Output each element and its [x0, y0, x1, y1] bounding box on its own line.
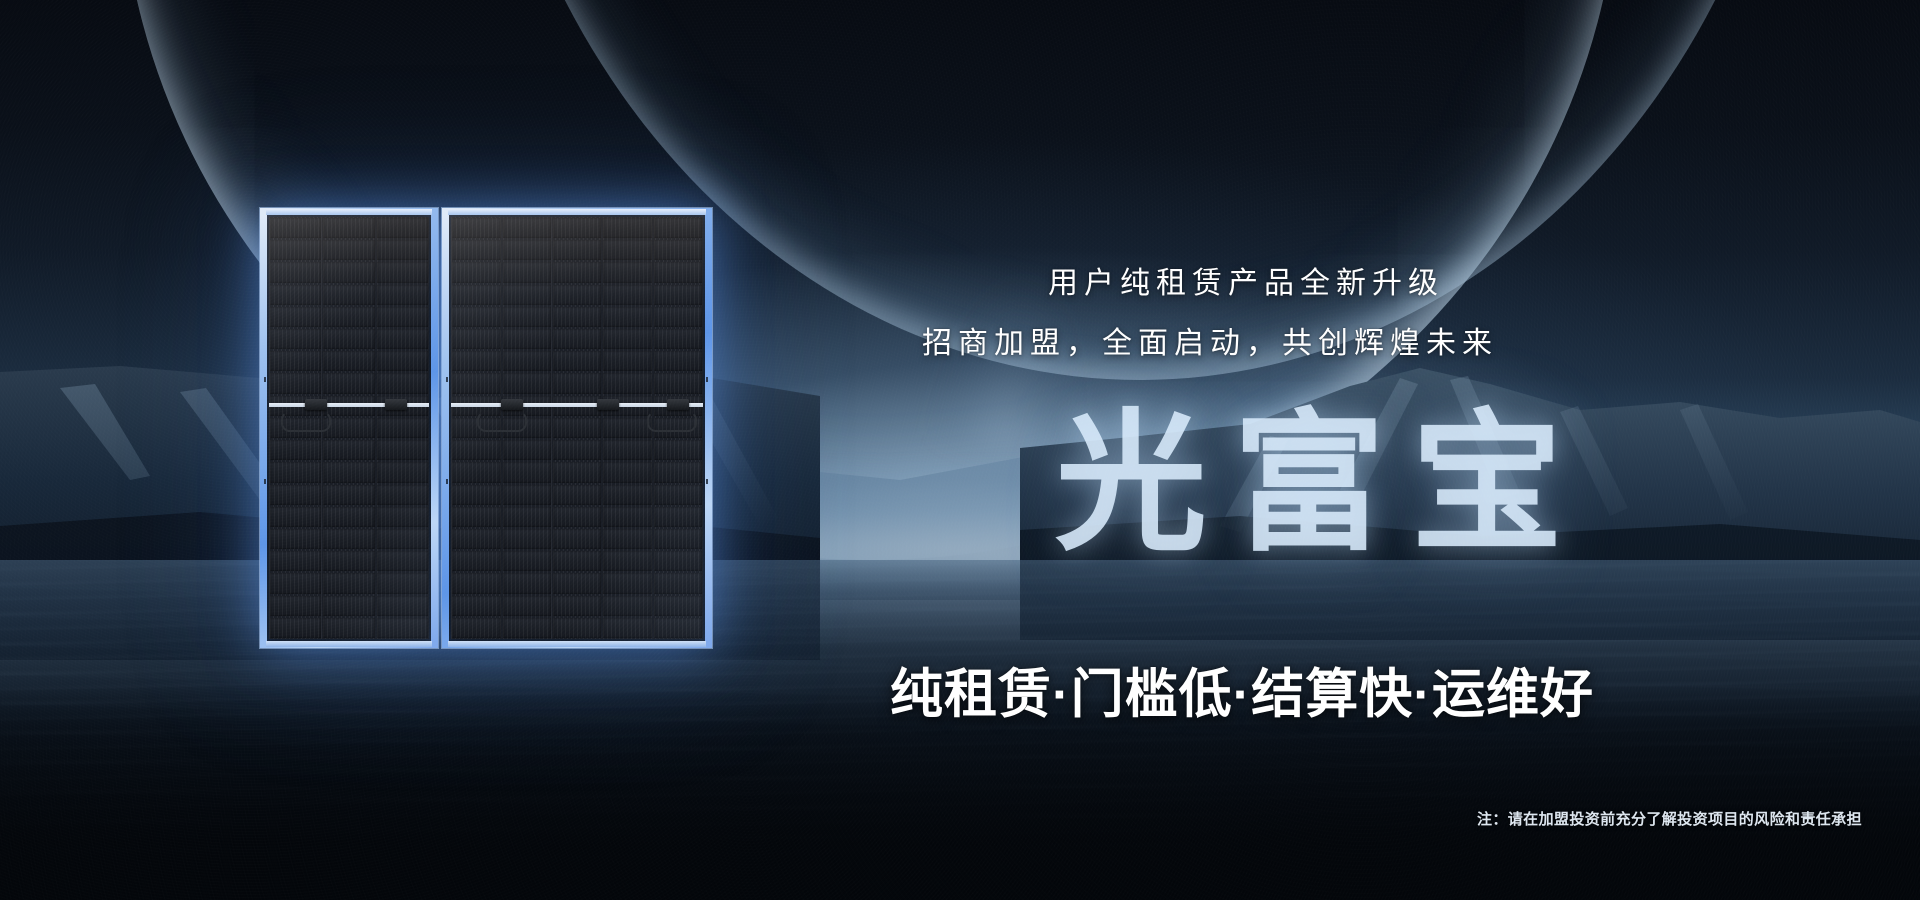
headline-line-1: 用户纯租赁产品全新升级	[1048, 258, 1444, 302]
junction-box	[597, 399, 619, 410]
solar-cell	[654, 307, 702, 327]
solar-cell	[270, 618, 321, 638]
solar-cell	[503, 507, 551, 527]
solar-cell	[377, 507, 428, 527]
solar-cell	[553, 240, 601, 260]
solar-cell	[503, 596, 551, 616]
solar-cell	[323, 551, 374, 571]
solar-cell	[503, 551, 551, 571]
solar-cell	[377, 307, 428, 327]
solar-cell	[270, 373, 321, 393]
solar-cell	[323, 507, 374, 527]
solar-cell	[377, 596, 428, 616]
solar-cell	[503, 529, 551, 549]
solar-cell	[603, 240, 651, 260]
panel-rail-top	[448, 209, 706, 215]
panel-cable	[477, 411, 527, 432]
solar-cell	[323, 373, 374, 393]
solar-cell	[323, 240, 374, 260]
solar-cell	[553, 462, 601, 482]
solar-cell	[654, 240, 702, 260]
solar-cell	[553, 285, 601, 305]
solar-cell	[553, 529, 601, 549]
solar-cell	[654, 218, 702, 238]
solar-cell	[654, 573, 702, 593]
panel-rail-bottom	[266, 641, 432, 647]
solar-cell	[270, 551, 321, 571]
panel-rail-top	[266, 209, 432, 215]
mount-hole	[264, 479, 266, 484]
solar-cell	[603, 551, 651, 571]
junction-box	[385, 399, 407, 410]
solar-cell	[452, 329, 500, 349]
panel-cable	[647, 411, 697, 432]
solar-cell	[270, 573, 321, 593]
solar-cell	[603, 618, 651, 638]
solar-cell	[654, 329, 702, 349]
solar-cell	[377, 218, 428, 238]
solar-cell	[503, 440, 551, 460]
solar-cell	[270, 329, 321, 349]
mount-hole	[264, 377, 266, 382]
solar-cell	[503, 285, 551, 305]
junction-box	[667, 399, 689, 410]
solar-cell	[503, 240, 551, 260]
solar-cell	[654, 485, 702, 505]
solar-cell	[553, 596, 601, 616]
solar-cell	[603, 596, 651, 616]
solar-cell	[377, 262, 428, 282]
solar-cell	[553, 440, 601, 460]
solar-cell	[323, 262, 374, 282]
solar-cell	[553, 418, 601, 438]
solar-cell	[452, 485, 500, 505]
solar-cell	[603, 418, 651, 438]
solar-cell	[323, 596, 374, 616]
solar-cell	[323, 618, 374, 638]
solar-cell	[553, 307, 601, 327]
solar-cell	[323, 351, 374, 371]
solar-cell	[377, 351, 428, 371]
solar-cell	[503, 307, 551, 327]
solar-cell	[452, 462, 500, 482]
solar-cell	[270, 440, 321, 460]
solar-panel-module	[260, 208, 712, 648]
busbar-strip	[451, 403, 703, 407]
solar-cell	[503, 573, 551, 593]
mount-hole	[706, 377, 708, 382]
solar-cell	[377, 285, 428, 305]
mount-hole	[446, 479, 448, 484]
solar-cell	[553, 618, 601, 638]
solar-cell	[323, 329, 374, 349]
solar-cell	[603, 262, 651, 282]
solar-cell	[452, 573, 500, 593]
solar-cell	[377, 240, 428, 260]
solar-cell	[377, 573, 428, 593]
solar-cell	[270, 462, 321, 482]
solar-cell	[377, 418, 428, 438]
solar-cell	[270, 307, 321, 327]
solar-cell	[603, 329, 651, 349]
solar-panel-right	[442, 208, 712, 648]
solar-cell	[270, 529, 321, 549]
brand-title: 光富宝	[1055, 408, 1589, 560]
solar-cell	[452, 240, 500, 260]
solar-cell	[603, 529, 651, 549]
solar-cell	[270, 596, 321, 616]
tagline: 纯租赁·门槛低·结算快·运维好	[890, 668, 1594, 721]
solar-cell	[553, 329, 601, 349]
solar-cell	[603, 573, 651, 593]
solar-cell	[270, 262, 321, 282]
solar-cell	[452, 218, 500, 238]
solar-cell	[377, 618, 428, 638]
junction-box	[305, 399, 327, 410]
promotional-banner: 用户纯租赁产品全新升级 招商加盟，全面启动，共创辉煌未来 光富宝 纯租赁·门槛低…	[0, 0, 1920, 900]
solar-cell	[553, 573, 601, 593]
solar-cell	[553, 262, 601, 282]
solar-cell	[377, 373, 428, 393]
panel-rail-bottom	[448, 641, 706, 647]
solar-cell	[270, 351, 321, 371]
solar-cell	[377, 329, 428, 349]
solar-cell	[503, 618, 551, 638]
solar-cell	[503, 462, 551, 482]
mount-hole	[446, 377, 448, 382]
solar-cell	[452, 307, 500, 327]
solar-cell	[503, 373, 551, 393]
mount-hole	[706, 479, 708, 484]
solar-cell	[270, 485, 321, 505]
solar-cell	[603, 351, 651, 371]
solar-cell	[452, 618, 500, 638]
solar-cell	[323, 285, 374, 305]
solar-cell	[377, 462, 428, 482]
solar-cell	[654, 462, 702, 482]
solar-cell	[503, 329, 551, 349]
solar-cell	[553, 507, 601, 527]
solar-cell	[503, 218, 551, 238]
solar-cell	[603, 485, 651, 505]
solar-cell	[654, 551, 702, 571]
solar-cell	[270, 507, 321, 527]
solar-cell	[553, 351, 601, 371]
solar-cell	[553, 373, 601, 393]
solar-cell	[270, 285, 321, 305]
solar-cell	[553, 218, 601, 238]
solar-cell	[654, 507, 702, 527]
solar-cell	[323, 440, 374, 460]
solar-cell	[377, 529, 428, 549]
solar-cell	[452, 529, 500, 549]
solar-cell	[377, 551, 428, 571]
solar-cell	[323, 307, 374, 327]
solar-cell	[603, 307, 651, 327]
solar-cell	[503, 262, 551, 282]
solar-cell	[654, 529, 702, 549]
solar-cell	[323, 573, 374, 593]
solar-cell	[377, 440, 428, 460]
solar-cell	[270, 240, 321, 260]
solar-cell	[654, 373, 702, 393]
solar-cell	[654, 262, 702, 282]
solar-cell	[603, 285, 651, 305]
solar-cell	[323, 485, 374, 505]
headline-line-2: 招商加盟，全面启动，共创辉煌未来	[922, 318, 1498, 362]
solar-cell	[603, 440, 651, 460]
solar-cell	[452, 596, 500, 616]
solar-cell	[603, 218, 651, 238]
solar-cell	[654, 440, 702, 460]
solar-cell	[323, 462, 374, 482]
solar-cell	[323, 418, 374, 438]
solar-cell	[452, 285, 500, 305]
disclaimer-note: 注：请在加盟投资前充分了解投资项目的风险和责任承担	[1477, 808, 1862, 829]
solar-cell	[553, 551, 601, 571]
junction-box	[501, 399, 523, 410]
solar-cell	[270, 218, 321, 238]
solar-cell	[654, 351, 702, 371]
solar-cell	[452, 351, 500, 371]
solar-cell	[377, 485, 428, 505]
solar-cell	[503, 351, 551, 371]
solar-panel-left	[260, 208, 438, 648]
panel-cable	[281, 411, 331, 432]
solar-cell	[603, 462, 651, 482]
solar-cell	[452, 507, 500, 527]
solar-cell	[654, 596, 702, 616]
solar-cell	[452, 551, 500, 571]
solar-cell	[603, 373, 651, 393]
solar-cell	[553, 485, 601, 505]
solar-cell	[323, 218, 374, 238]
solar-cell	[654, 618, 702, 638]
solar-cell	[452, 440, 500, 460]
solar-cell	[603, 507, 651, 527]
solar-cell	[654, 285, 702, 305]
solar-cell	[323, 529, 374, 549]
solar-cell	[452, 262, 500, 282]
solar-cell	[503, 485, 551, 505]
solar-cell	[452, 373, 500, 393]
